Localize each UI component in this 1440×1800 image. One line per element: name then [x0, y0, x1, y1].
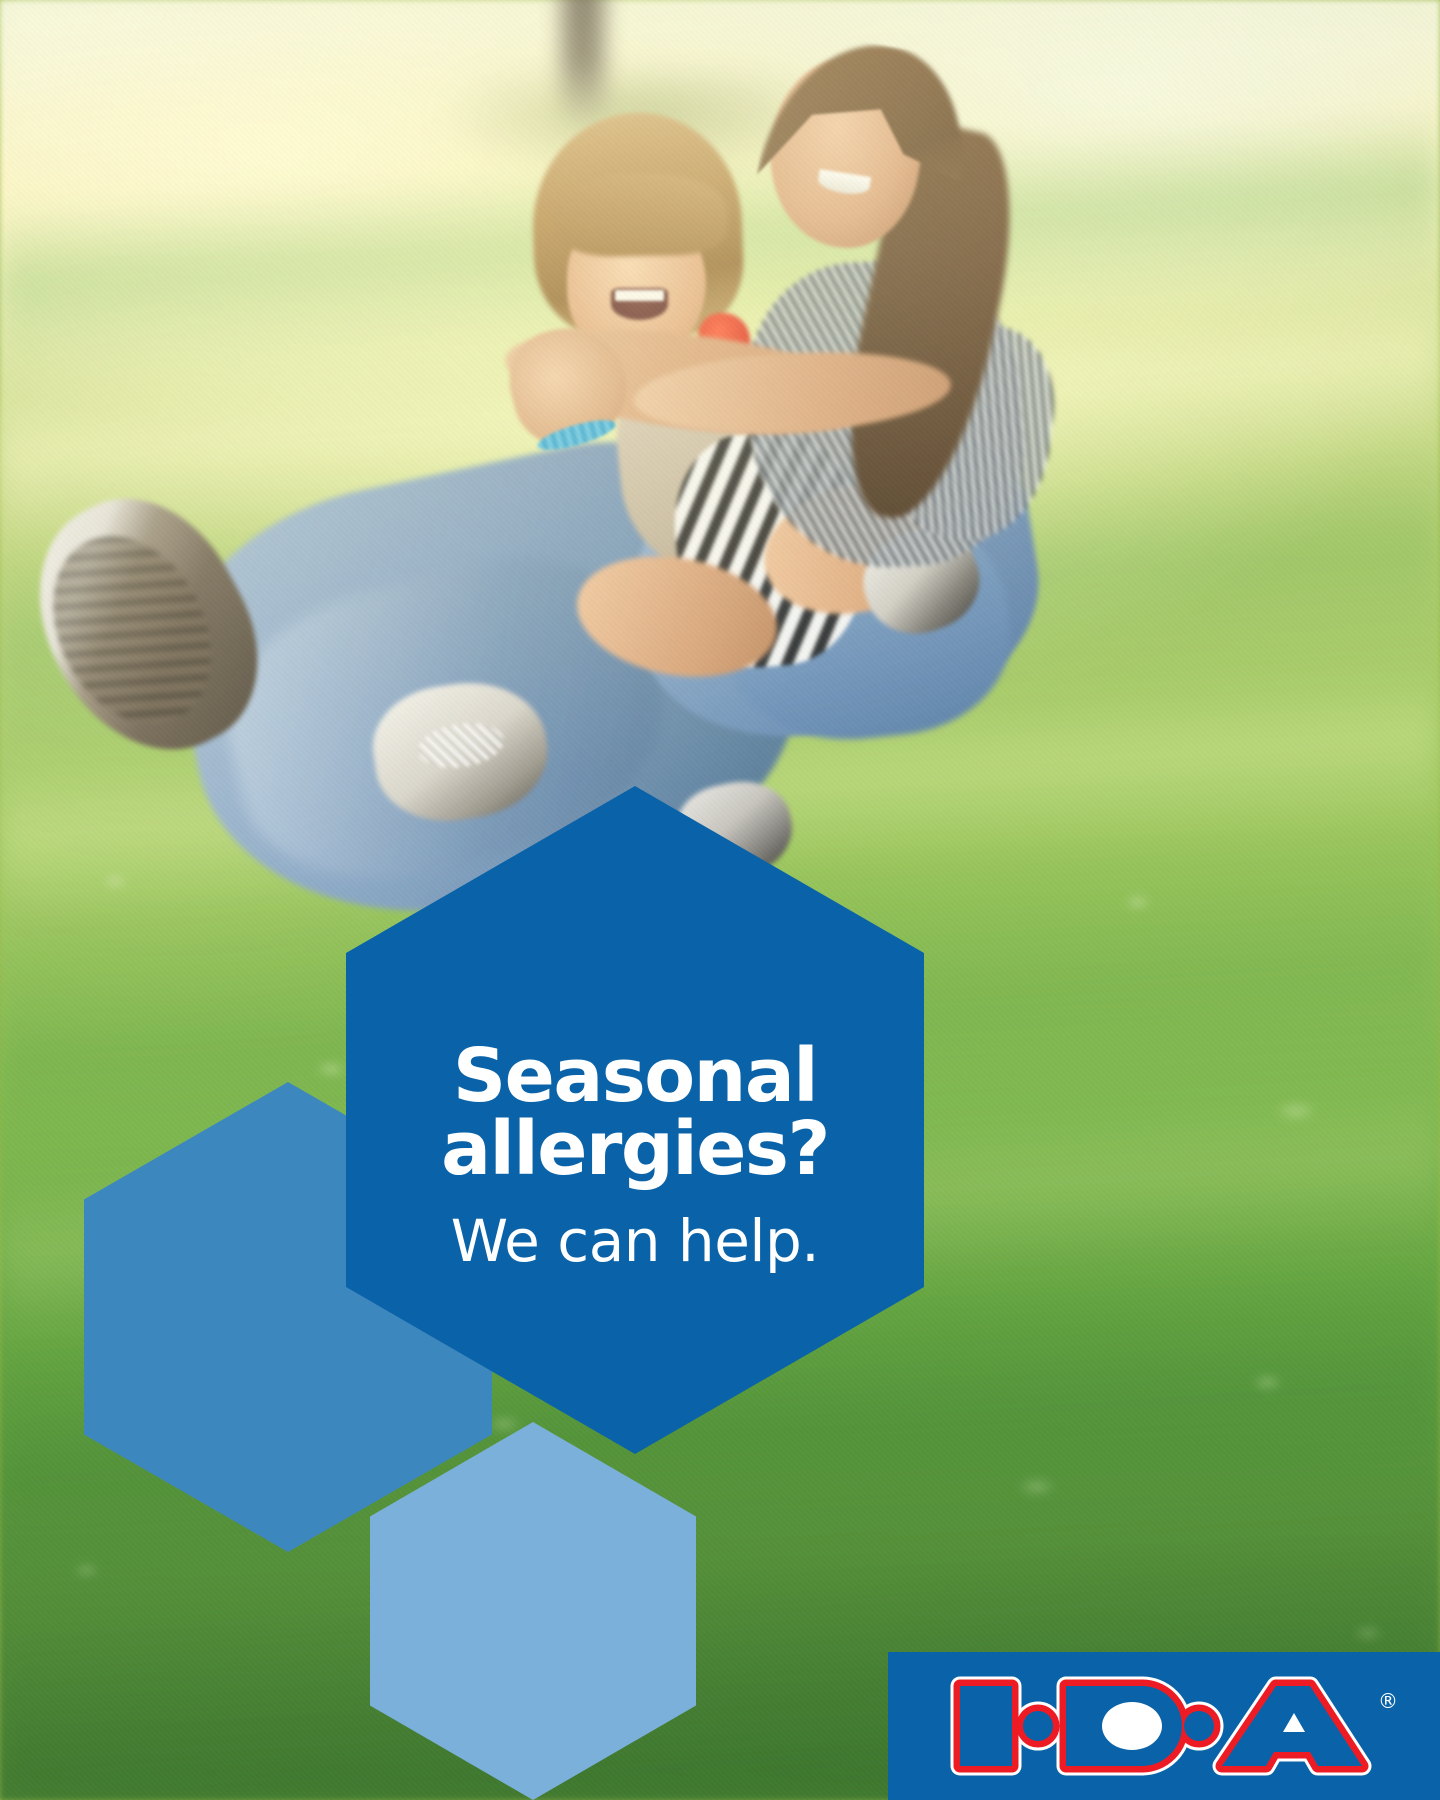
brand-logo-container: ®: [888, 1652, 1440, 1800]
child-teeth: [615, 290, 664, 302]
ida-logo-icon: ®: [946, 1674, 1416, 1778]
headline-text: Seasonal allergies?: [386, 1040, 884, 1185]
subheadline-text: We can help.: [386, 1211, 884, 1272]
child-fringe: [554, 171, 728, 257]
svg-text:®: ®: [1378, 1689, 1398, 1713]
advertisement-poster: Seasonal allergies? We can help.: [0, 0, 1440, 1800]
